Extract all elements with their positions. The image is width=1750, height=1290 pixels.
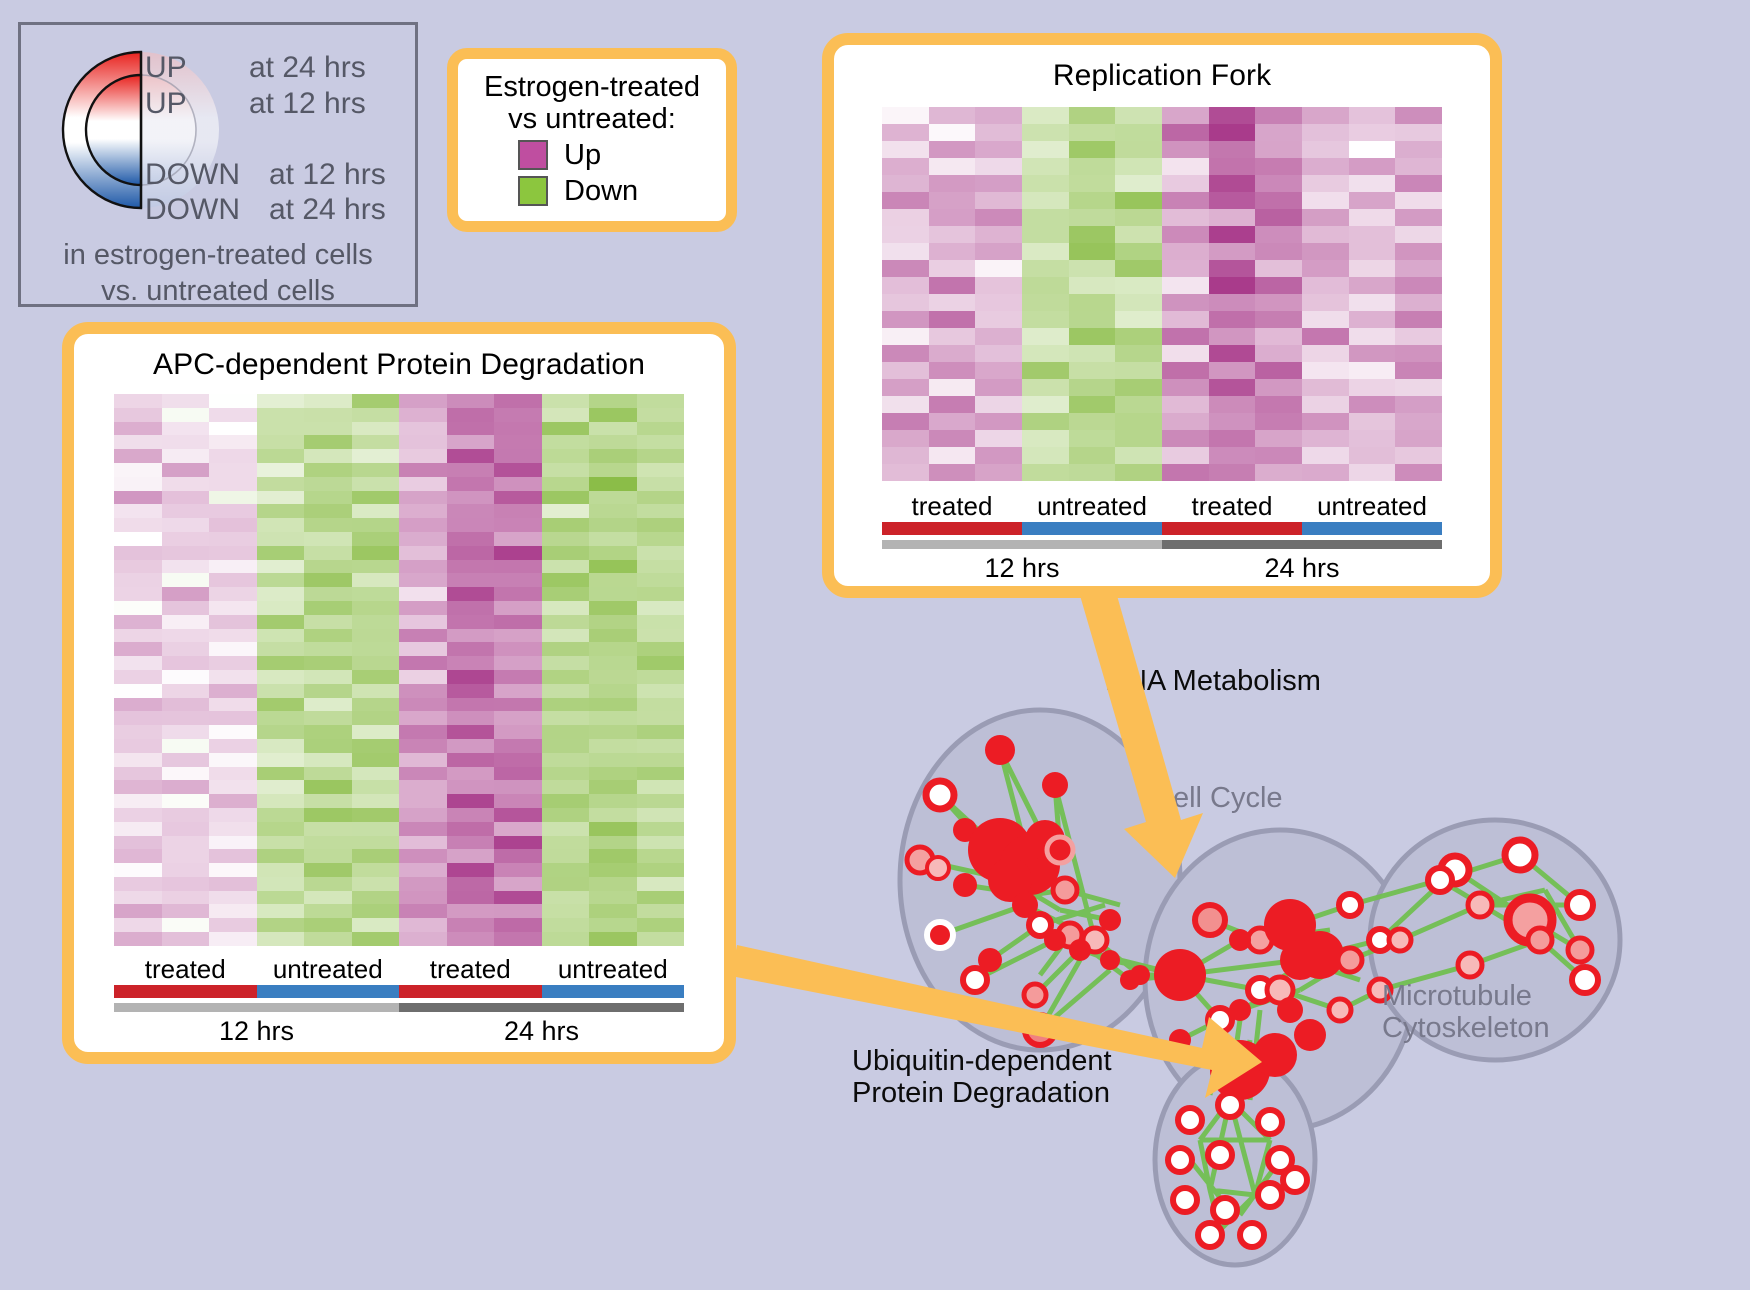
heatmap-cell xyxy=(1162,294,1209,311)
heatmap-cell xyxy=(542,836,590,850)
heatmap-cell xyxy=(494,491,542,505)
heatmap-cell xyxy=(162,394,210,408)
heatmap-cell xyxy=(209,767,257,781)
heatmap-cell xyxy=(1115,396,1162,413)
heatmap-cell xyxy=(542,753,590,767)
heatmap-cell xyxy=(209,698,257,712)
legend-title-line1: Estrogen-treated xyxy=(458,71,726,103)
heatmap-cell xyxy=(447,435,495,449)
heatmap-cell xyxy=(257,780,305,794)
heatmap-cell xyxy=(399,629,447,643)
heatmap-cell xyxy=(399,670,447,684)
heatmap-cell xyxy=(1349,447,1396,464)
heatmap-cell xyxy=(542,822,590,836)
time-label: 24 hrs xyxy=(1162,553,1442,584)
sample-label: treated xyxy=(399,954,542,985)
heatmap-cell xyxy=(1349,345,1396,362)
key-row-up-12: UP xyxy=(145,87,187,121)
updown-legend-panel: Estrogen-treated vs untreated: Up Down xyxy=(447,48,737,232)
heatmap-cell xyxy=(637,918,685,932)
heatmap-cell xyxy=(209,836,257,850)
heatmap-cell xyxy=(637,491,685,505)
heatmap-cell xyxy=(352,932,400,946)
heatmap-cell xyxy=(352,877,400,891)
heatmap-cell xyxy=(589,849,637,863)
heatmap-cell xyxy=(1349,141,1396,158)
heatmap-cell xyxy=(162,698,210,712)
heatmap-cell xyxy=(882,226,929,243)
heatmap-cell xyxy=(589,546,637,560)
heatmap-cell xyxy=(494,504,542,518)
heatmap-cell xyxy=(589,408,637,422)
heatmap-cell xyxy=(542,767,590,781)
heatmap-cell xyxy=(399,491,447,505)
heatmap-cell xyxy=(304,891,352,905)
heatmap-cell xyxy=(1302,464,1349,481)
heatmap-cell xyxy=(447,463,495,477)
heatmap-cell xyxy=(1395,175,1442,192)
heatmap-cell xyxy=(1022,464,1069,481)
heatmap-cell xyxy=(1302,192,1349,209)
panel-apc-dependent: APC-dependent Protein Degradation treate… xyxy=(62,322,736,1064)
heatmap-cell xyxy=(257,394,305,408)
heatmap-cell xyxy=(1022,294,1069,311)
heatmap-cell xyxy=(589,477,637,491)
sample-label: treated xyxy=(882,491,1022,522)
heatmap-cell xyxy=(1349,294,1396,311)
heatmap-cell xyxy=(399,711,447,725)
heatmap-cell xyxy=(352,491,400,505)
heatmap-cell xyxy=(589,767,637,781)
heatmap-cell xyxy=(162,504,210,518)
heatmap-cell xyxy=(352,904,400,918)
heatmap-cell xyxy=(257,601,305,615)
time-label: 24 hrs xyxy=(399,1016,684,1047)
heatmap-cell xyxy=(1395,430,1442,447)
heatmap-cell xyxy=(352,642,400,656)
heatmap-cell xyxy=(637,463,685,477)
heatmap-cell xyxy=(304,739,352,753)
heatmap-cell xyxy=(637,532,685,546)
heatmap-cell xyxy=(162,560,210,574)
heatmap-cell xyxy=(257,891,305,905)
heatmap-cell xyxy=(1302,175,1349,192)
heatmap-cell xyxy=(1349,396,1396,413)
heatmap-cell xyxy=(975,107,1022,124)
heatmap-cell xyxy=(1349,362,1396,379)
heatmap-cell xyxy=(257,546,305,560)
heatmap-cell xyxy=(399,615,447,629)
heatmap-cell xyxy=(1069,175,1116,192)
heatmap-cell xyxy=(882,277,929,294)
heatmap-cell xyxy=(589,670,637,684)
heatmap-cell xyxy=(1255,175,1302,192)
heatmap-cell xyxy=(352,891,400,905)
heatmap-cell xyxy=(399,780,447,794)
heatmap-cell xyxy=(352,822,400,836)
heatmap-cell xyxy=(1302,243,1349,260)
heatmap-cell xyxy=(1022,124,1069,141)
heatmap-cell xyxy=(542,891,590,905)
heatmap-cell xyxy=(1069,209,1116,226)
heatmap-cell xyxy=(304,560,352,574)
heatmap-cell xyxy=(494,932,542,946)
heatmap-cell xyxy=(447,656,495,670)
heatmap-cell xyxy=(1022,379,1069,396)
heatmap-cell xyxy=(447,932,495,946)
heatmap-cell xyxy=(882,345,929,362)
heatmap-cell xyxy=(1349,413,1396,430)
heatmap-cell xyxy=(209,408,257,422)
heatmap-cell xyxy=(399,518,447,532)
heatmap-cell xyxy=(352,463,400,477)
heatmap-cell xyxy=(162,711,210,725)
heatmap-cell xyxy=(352,449,400,463)
heatmap-cell xyxy=(399,408,447,422)
heatmap-cell xyxy=(1069,311,1116,328)
heatmap-cell xyxy=(637,904,685,918)
heatmap-cell xyxy=(304,711,352,725)
heatmap-cell xyxy=(1255,413,1302,430)
heatmap-cell xyxy=(1162,447,1209,464)
heatmap-cell xyxy=(494,532,542,546)
heatmap-cell xyxy=(1302,124,1349,141)
heatmap-cell xyxy=(399,753,447,767)
heatmap-cell xyxy=(352,794,400,808)
heatmap-cell xyxy=(162,449,210,463)
heatmap-cell xyxy=(929,311,976,328)
heatmap-cell xyxy=(304,629,352,643)
heatmap-cell xyxy=(1349,464,1396,481)
heatmap-cell xyxy=(589,904,637,918)
heatmap-cell xyxy=(304,932,352,946)
heatmap-cell xyxy=(399,435,447,449)
heatmap-cell xyxy=(304,463,352,477)
heatmap-cell xyxy=(162,753,210,767)
heatmap-cell xyxy=(1302,141,1349,158)
heatmap-cell xyxy=(352,767,400,781)
heatmap-cell xyxy=(209,435,257,449)
heatmap-cell xyxy=(494,753,542,767)
heatmap-cell xyxy=(352,435,400,449)
heatmap-cell xyxy=(494,435,542,449)
heatmap-cell xyxy=(1302,328,1349,345)
heatmap-cell xyxy=(882,260,929,277)
heatmap-cell xyxy=(162,877,210,891)
heatmap-cell xyxy=(1302,379,1349,396)
heatmap-cell xyxy=(1162,362,1209,379)
heatmap-cell xyxy=(1395,192,1442,209)
heatmap-cell xyxy=(257,422,305,436)
heatmap-cell xyxy=(447,698,495,712)
heatmap-cell xyxy=(399,477,447,491)
heatmap-cell xyxy=(1069,362,1116,379)
heatmap-cell xyxy=(1022,413,1069,430)
heatmap-cell xyxy=(1115,107,1162,124)
heatmap-cell xyxy=(257,808,305,822)
heatmap-cell xyxy=(1302,447,1349,464)
heatmap-cell xyxy=(1395,260,1442,277)
heatmap-cell xyxy=(1022,141,1069,158)
heatmap-cell xyxy=(162,642,210,656)
heatmap-cell xyxy=(882,464,929,481)
heatmap-cell xyxy=(209,629,257,643)
heatmap-cell xyxy=(447,836,495,850)
heatmap-cell xyxy=(352,573,400,587)
heatmap-cell xyxy=(1162,345,1209,362)
heatmap-cell xyxy=(1115,192,1162,209)
heatmap-cell xyxy=(929,107,976,124)
heatmap-cell xyxy=(494,408,542,422)
heatmap-cell xyxy=(494,518,542,532)
heatmap-cell xyxy=(162,422,210,436)
heatmap-cell xyxy=(589,918,637,932)
heatmap-cell xyxy=(162,435,210,449)
time-colorbar xyxy=(399,1003,684,1012)
heatmap-cell xyxy=(304,670,352,684)
heatmap-cell xyxy=(1069,107,1116,124)
heatmap-cell xyxy=(352,753,400,767)
heatmap-cell xyxy=(589,780,637,794)
heatmap-cell xyxy=(637,615,685,629)
heatmap-cell xyxy=(882,124,929,141)
heatmap-cell xyxy=(1162,192,1209,209)
heatmap-cell xyxy=(882,141,929,158)
heatmap-cell xyxy=(1209,294,1256,311)
heatmap-cell xyxy=(494,601,542,615)
heatmap-cell xyxy=(975,413,1022,430)
heatmap-cell xyxy=(447,877,495,891)
heatmap-cell xyxy=(1255,430,1302,447)
heatmap-cell xyxy=(542,670,590,684)
heatmap-cell xyxy=(1395,141,1442,158)
heatmap-cell xyxy=(304,808,352,822)
heatmap-cell xyxy=(882,294,929,311)
heatmap-cell xyxy=(447,422,495,436)
heatmap-cell xyxy=(975,124,1022,141)
heatmap-cell xyxy=(162,849,210,863)
heatmap-cell xyxy=(257,822,305,836)
heatmap-cell xyxy=(399,725,447,739)
heatmap-cell xyxy=(1395,107,1442,124)
heatmap-cell xyxy=(542,560,590,574)
heatmap-cell xyxy=(1209,141,1256,158)
heatmap-cell xyxy=(352,587,400,601)
heatmap-cell xyxy=(1349,209,1396,226)
heatmap-cell xyxy=(209,546,257,560)
heatmap-cell xyxy=(209,642,257,656)
heatmap-cell xyxy=(162,463,210,477)
heatmap-cell xyxy=(494,463,542,477)
heatmap-cell xyxy=(637,518,685,532)
heatmap-cell xyxy=(494,794,542,808)
heatmap-cell xyxy=(209,918,257,932)
heatmap-cell xyxy=(929,124,976,141)
heatmap-cell xyxy=(257,670,305,684)
heatmap-cell xyxy=(1022,345,1069,362)
heatmap-cell xyxy=(1302,430,1349,447)
heatmap-cell xyxy=(1349,124,1396,141)
heatmap-cell xyxy=(114,780,162,794)
heatmap-cell xyxy=(1302,413,1349,430)
heatmap-cell xyxy=(399,836,447,850)
heatmap-cell xyxy=(637,642,685,656)
heatmap-cell xyxy=(114,573,162,587)
heatmap-cell xyxy=(352,422,400,436)
legend-label-down: Down xyxy=(564,175,638,208)
heatmap-cell xyxy=(1255,447,1302,464)
heatmap-cell xyxy=(352,725,400,739)
heatmap-cell xyxy=(929,396,976,413)
heatmap-cell xyxy=(1162,396,1209,413)
heatmap-cell xyxy=(352,518,400,532)
heatmap-cell xyxy=(257,767,305,781)
heatmap-cell xyxy=(882,430,929,447)
heatmap-cell xyxy=(399,932,447,946)
heatmap-cell xyxy=(209,422,257,436)
heatmap-cell xyxy=(1022,209,1069,226)
heatmap-cell xyxy=(542,615,590,629)
heatmap-cell xyxy=(975,158,1022,175)
heatmap-cell xyxy=(637,753,685,767)
cluster-label-microtubule-cytoskeleton: Microtubule Cytoskeleton xyxy=(1382,980,1550,1045)
heatmap-cell xyxy=(542,477,590,491)
heatmap-cell xyxy=(1209,124,1256,141)
heatmap-cell xyxy=(162,794,210,808)
heatmap-cell xyxy=(447,918,495,932)
panel-title-apc-dependent: APC-dependent Protein Degradation xyxy=(74,348,724,382)
heatmap-cell xyxy=(882,362,929,379)
legend-title-line2: vs untreated: xyxy=(458,103,726,135)
heatmap-cell xyxy=(257,918,305,932)
heatmap-cell xyxy=(975,209,1022,226)
heatmap-cell xyxy=(1302,260,1349,277)
heatmap-cell xyxy=(114,753,162,767)
heatmap-cell xyxy=(399,877,447,891)
heatmap-cell xyxy=(162,491,210,505)
heatmap-cell xyxy=(399,532,447,546)
heatmap-cell xyxy=(589,435,637,449)
heatmap-cell xyxy=(114,394,162,408)
sample-colorbar xyxy=(882,522,1022,535)
heatmap-cell xyxy=(1115,277,1162,294)
heatmap-cell xyxy=(589,532,637,546)
cluster-label-ubiquitin-degradation: Ubiquitin-dependent Protein Degradation xyxy=(852,1045,1112,1110)
heatmap-cell xyxy=(1069,243,1116,260)
heatmap-cell xyxy=(447,684,495,698)
sample-colorbar xyxy=(114,985,257,998)
heatmap-cell xyxy=(114,491,162,505)
heatmap-cell xyxy=(162,546,210,560)
sample-labels-rf: treateduntreatedtreateduntreated xyxy=(882,491,1442,522)
heatmap-cell xyxy=(209,877,257,891)
heatmap-cell xyxy=(494,656,542,670)
heatmap-cell xyxy=(352,863,400,877)
heatmap-cell xyxy=(352,739,400,753)
heatmap-cell xyxy=(1162,158,1209,175)
heatmap-cell xyxy=(1069,277,1116,294)
heatmap-apc-dependent xyxy=(114,394,684,946)
heatmap-cell xyxy=(1115,311,1162,328)
heatmap-cell xyxy=(1209,209,1256,226)
heatmap-cell xyxy=(542,546,590,560)
heatmap-cell xyxy=(1209,107,1256,124)
heatmap-cell xyxy=(257,739,305,753)
heatmap-cell xyxy=(1349,158,1396,175)
heatmap-cell xyxy=(637,698,685,712)
heatmap-cell xyxy=(637,435,685,449)
panel-title-replication-fork: Replication Fork xyxy=(834,59,1490,93)
heatmap-cell xyxy=(542,422,590,436)
heatmap-cell xyxy=(1255,345,1302,362)
heatmap-cell xyxy=(114,684,162,698)
heatmap-cell xyxy=(114,932,162,946)
heatmap-cell xyxy=(1209,345,1256,362)
heatmap-cell xyxy=(257,518,305,532)
legend-item-up: Up xyxy=(518,139,726,172)
sample-annotation-rf: treateduntreatedtreateduntreated 12 hrs2… xyxy=(882,491,1442,584)
heatmap-cell xyxy=(304,684,352,698)
heatmap-cell xyxy=(637,546,685,560)
heatmap-cell xyxy=(114,463,162,477)
heatmap-cell xyxy=(257,863,305,877)
key-caption-line2: vs. untreated cells xyxy=(21,273,415,309)
heatmap-cell xyxy=(447,711,495,725)
heatmap-cell xyxy=(542,435,590,449)
heatmap-cell xyxy=(304,573,352,587)
heatmap-cell xyxy=(1115,209,1162,226)
heatmap-cell xyxy=(1022,192,1069,209)
heatmap-cell xyxy=(304,863,352,877)
heatmap-cell xyxy=(1209,362,1256,379)
heatmap-cell xyxy=(1115,243,1162,260)
heatmap-cell xyxy=(447,725,495,739)
heatmap-cell xyxy=(352,711,400,725)
heatmap-cell xyxy=(114,422,162,436)
heatmap-cell xyxy=(637,808,685,822)
heatmap-cell xyxy=(1115,362,1162,379)
heatmap-cell xyxy=(1162,277,1209,294)
heatmap-cell xyxy=(257,504,305,518)
heatmap-cell xyxy=(975,396,1022,413)
heatmap-cell xyxy=(542,863,590,877)
heatmap-cell xyxy=(304,642,352,656)
heatmap-cell xyxy=(637,877,685,891)
heatmap-cell xyxy=(882,107,929,124)
heatmap-cell xyxy=(1395,362,1442,379)
heatmap-cell xyxy=(209,780,257,794)
heatmap-cell xyxy=(304,767,352,781)
heatmap-cell xyxy=(447,504,495,518)
heatmap-cell xyxy=(114,918,162,932)
heatmap-cell xyxy=(447,491,495,505)
heatmap-cell xyxy=(637,822,685,836)
heatmap-cell xyxy=(162,615,210,629)
heatmap-cell xyxy=(162,601,210,615)
heatmap-cell xyxy=(1395,226,1442,243)
heatmap-cell xyxy=(929,260,976,277)
heatmap-cell xyxy=(1022,311,1069,328)
heatmap-cell xyxy=(637,767,685,781)
legend-title: Estrogen-treated vs untreated: xyxy=(458,71,726,136)
heatmap-cell xyxy=(162,587,210,601)
heatmap-cell xyxy=(1302,345,1349,362)
heatmap-cell xyxy=(257,449,305,463)
heatmap-cell xyxy=(975,243,1022,260)
heatmap-cell xyxy=(304,836,352,850)
heatmap-cell xyxy=(494,767,542,781)
heatmap-cell xyxy=(399,656,447,670)
